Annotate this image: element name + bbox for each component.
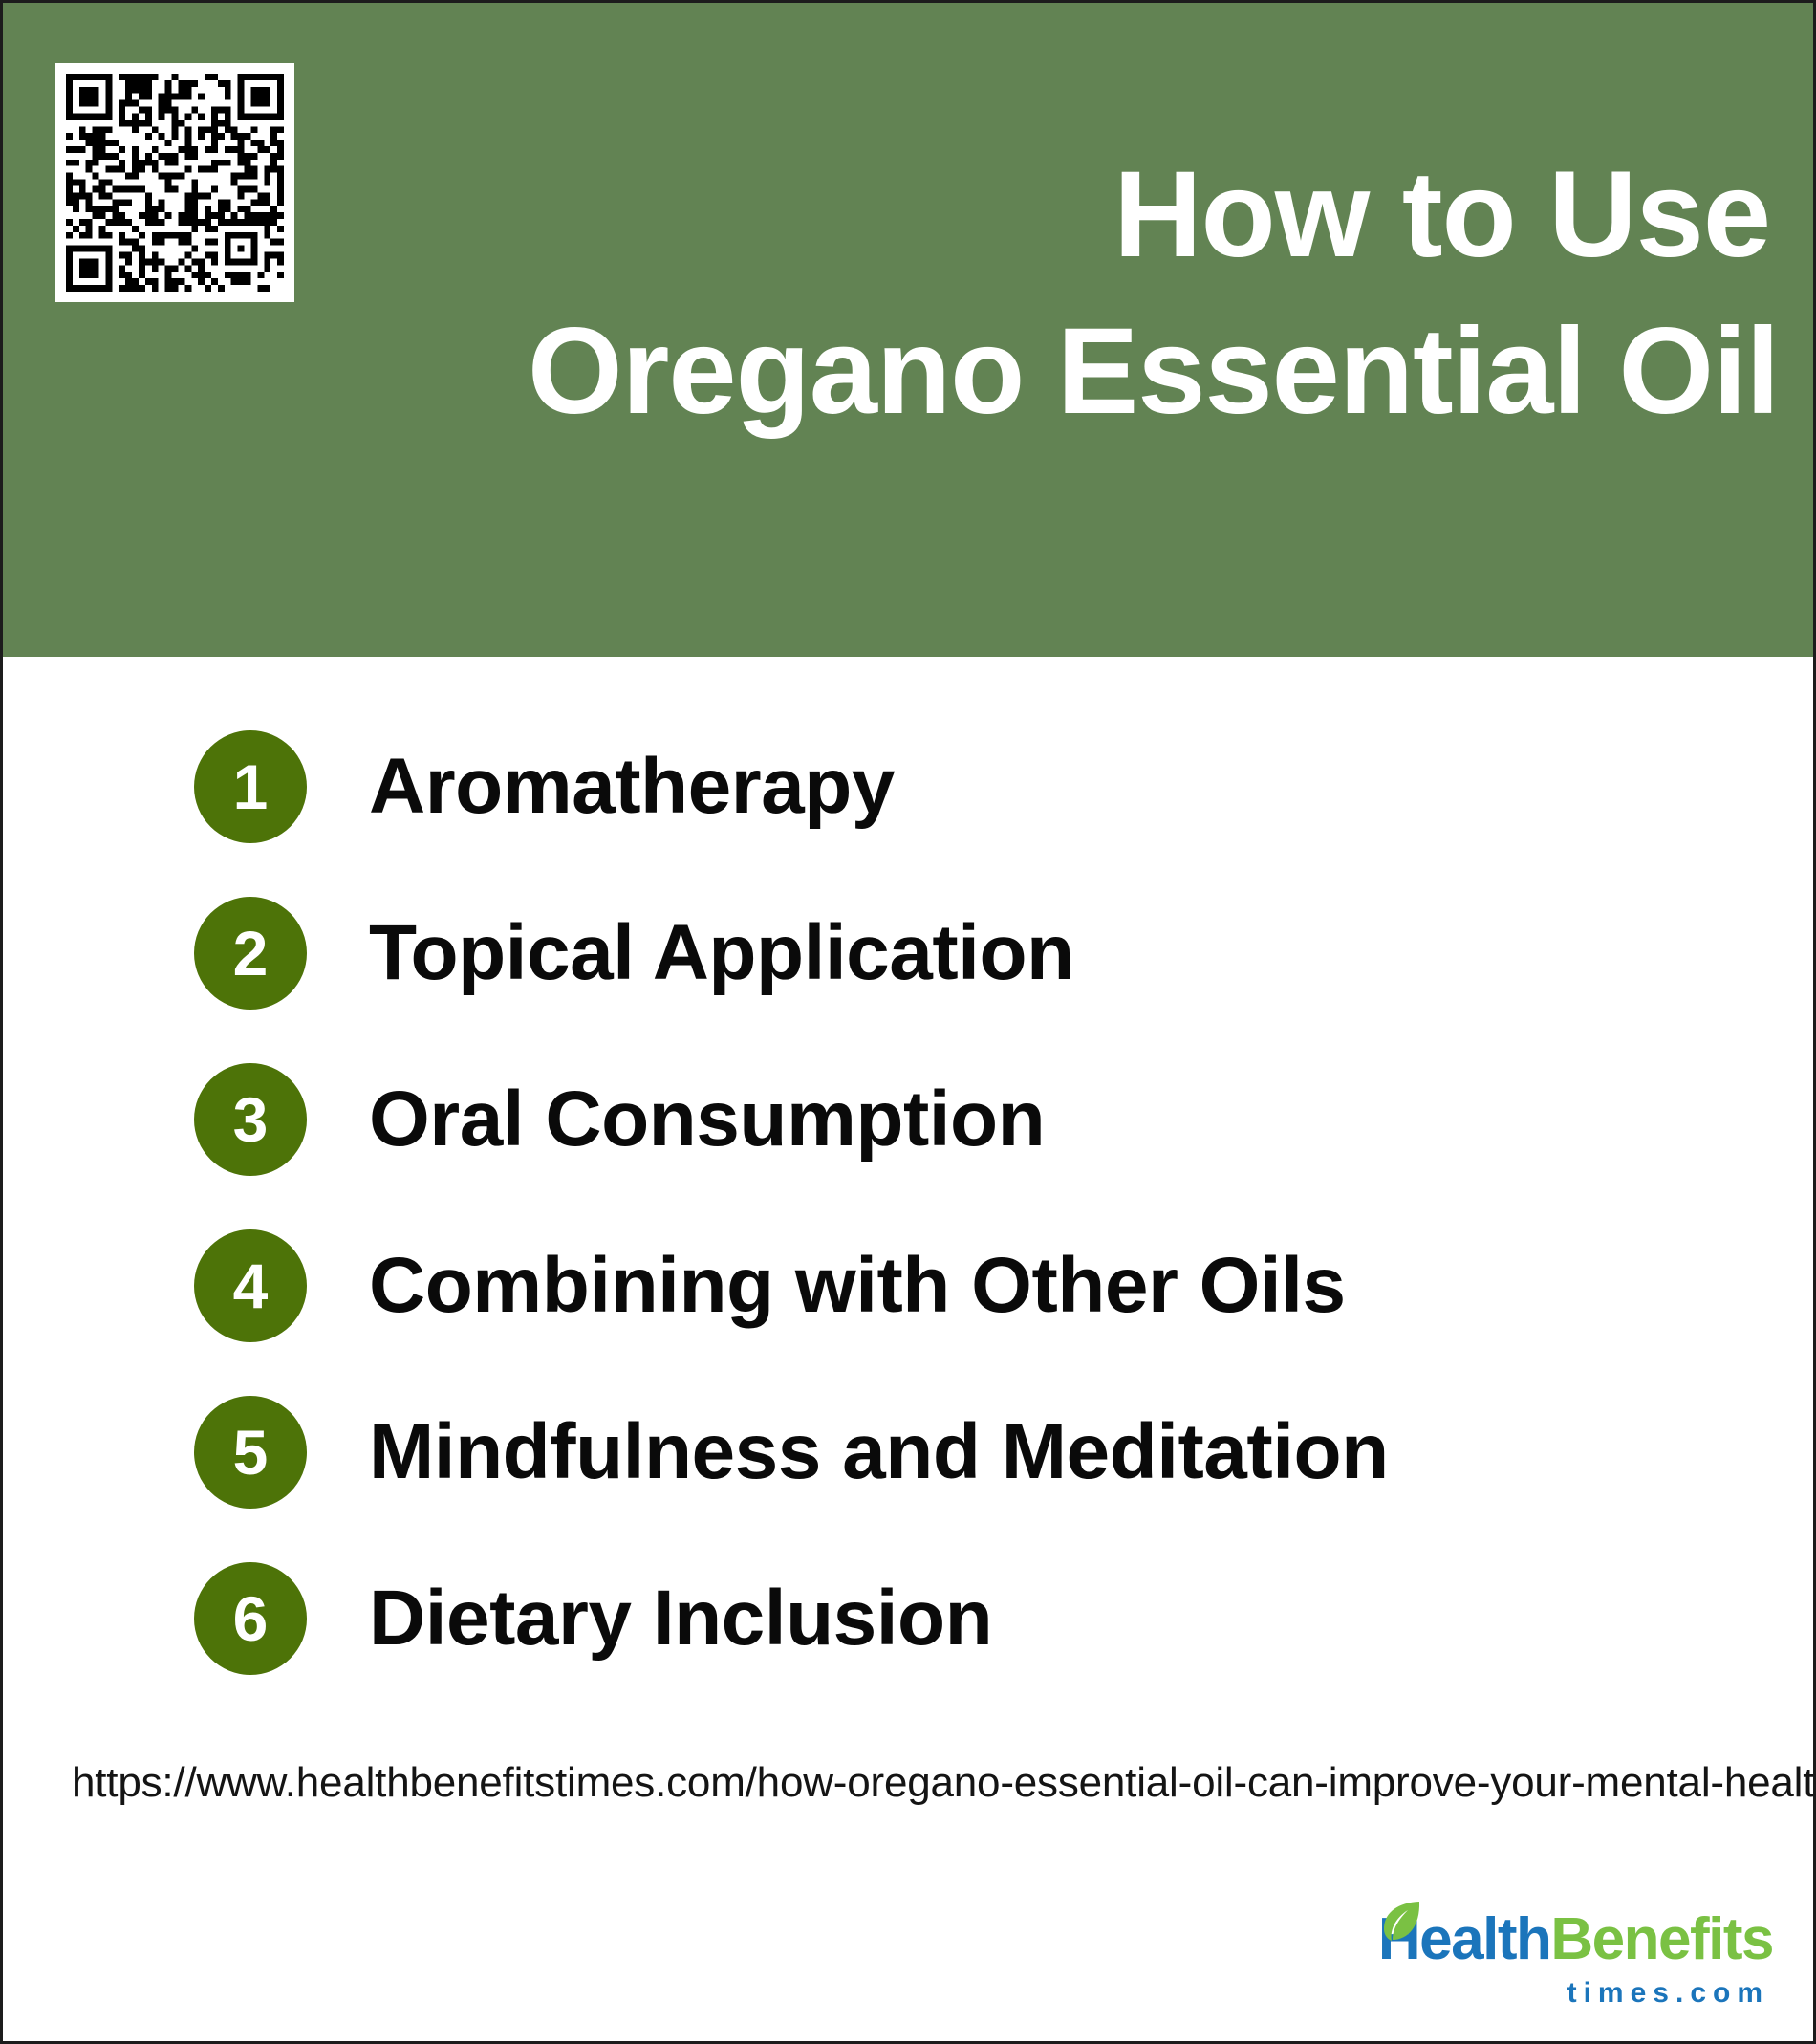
step-label: Topical Application: [369, 914, 1074, 992]
leaf-icon: [1381, 1899, 1423, 1943]
step-label: Combining with Other Oils: [369, 1247, 1346, 1325]
logo-wordmark: HealthBenefits: [1372, 1910, 1773, 1969]
step-number-badge: 2: [194, 897, 307, 1010]
qr-code-image: [66, 74, 284, 292]
page-title: How to Use Oregano Essential Oil: [528, 137, 1770, 450]
step-number-badge: 5: [194, 1396, 307, 1509]
step-number-badge: 4: [194, 1229, 307, 1342]
step-label: Dietary Inclusion: [369, 1579, 992, 1658]
infographic-page: How to Use Oregano Essential Oil 1 Aroma…: [0, 0, 1816, 2044]
source-url[interactable]: https://www.healthbenefitstimes.com/how-…: [72, 1760, 1816, 1806]
list-item: 6 Dietary Inclusion: [194, 1562, 992, 1675]
list-item: 4 Combining with Other Oils: [194, 1229, 1346, 1342]
step-label: Aromatherapy: [369, 748, 895, 826]
header-banner: How to Use Oregano Essential Oil: [3, 3, 1813, 657]
logo-tagline: times.com: [1372, 1979, 1773, 2008]
list-item: 3 Oral Consumption: [194, 1063, 1045, 1176]
list-item: 1 Aromatherapy: [194, 730, 895, 843]
step-number-badge: 3: [194, 1063, 307, 1176]
list-item: 5 Mindfulness and Meditation: [194, 1396, 1389, 1509]
list-item: 2 Topical Application: [194, 897, 1074, 1010]
logo-word-benefits: Benefits: [1550, 1906, 1773, 1972]
page-title-line-1: How to Use: [528, 137, 1770, 294]
site-logo[interactable]: HealthBenefits times.com: [1372, 1910, 1773, 2025]
page-title-line-2: Oregano Essential Oil: [528, 294, 1770, 450]
step-label: Oral Consumption: [369, 1080, 1045, 1159]
step-label: Mindfulness and Meditation: [369, 1413, 1389, 1491]
step-number-badge: 1: [194, 730, 307, 843]
step-number-badge: 6: [194, 1562, 307, 1675]
qr-code[interactable]: [55, 63, 294, 302]
